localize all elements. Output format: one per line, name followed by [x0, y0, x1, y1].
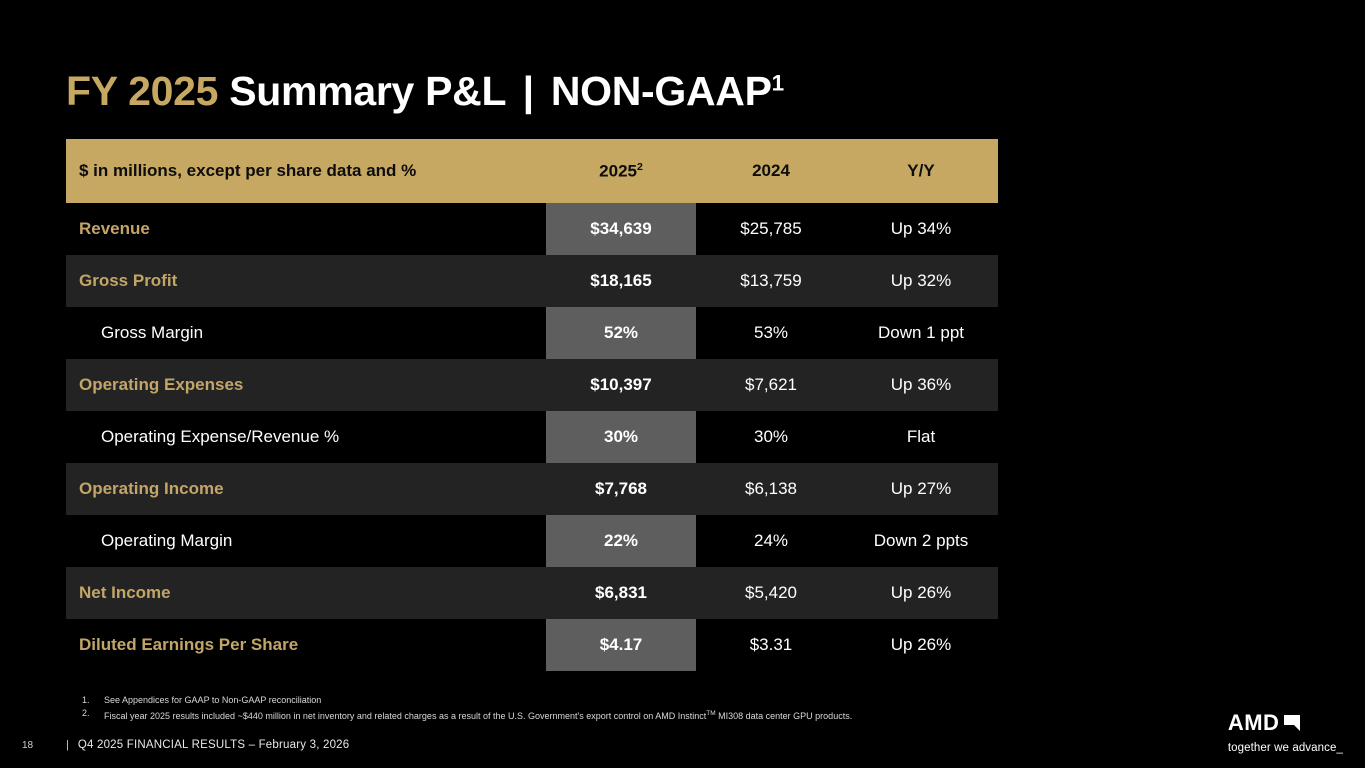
row-label: Operating Income — [66, 479, 546, 499]
column-header-2025-superscript: 2 — [637, 161, 643, 173]
cell-2025: 30% — [546, 427, 696, 447]
row-label: Gross Margin — [66, 323, 546, 343]
table-row: Net Income$6,831$5,420Up 26% — [66, 567, 998, 619]
column-header-yy: Y/Y — [846, 161, 996, 181]
column-header-2024: 2024 — [696, 161, 846, 181]
title-suffix: NON-GAAP — [551, 68, 772, 114]
footnote-2-text: Fiscal year 2025 results included ~$440 … — [104, 707, 852, 723]
row-label: Gross Profit — [66, 271, 546, 291]
row-label: Diluted Earnings Per Share — [66, 635, 546, 655]
footnote-1-text: See Appendices for GAAP to Non-GAAP reco… — [104, 694, 321, 707]
footnote-1-number: 1. — [82, 694, 104, 707]
footnote-2-number: 2. — [82, 707, 104, 723]
cell-2024: 30% — [696, 427, 846, 447]
table-body: Revenue$34,639$25,785Up 34%Gross Profit$… — [66, 203, 998, 671]
cell-2025: $34,639 — [546, 219, 696, 239]
table-header-row: $ in millions, except per share data and… — [66, 139, 998, 203]
cell-2024: $13,759 — [696, 271, 846, 291]
footnote-1: 1. See Appendices for GAAP to Non-GAAP r… — [82, 694, 1142, 707]
row-label: Operating Expense/Revenue % — [66, 427, 546, 447]
column-header-label: $ in millions, except per share data and… — [66, 161, 546, 181]
trademark-symbol: TM — [706, 710, 715, 717]
cell-2025: $18,165 — [546, 271, 696, 291]
slide-footer: 18 | Q4 2025 FINANCIAL RESULTS – Februar… — [22, 739, 349, 751]
amd-logo: AMD together we advance_ — [1228, 712, 1343, 754]
cell-yy: Up 26% — [846, 635, 996, 655]
cell-yy: Up 36% — [846, 375, 996, 395]
table-row: Operating Income$7,768$6,138Up 27% — [66, 463, 998, 515]
page-number: 18 — [22, 740, 66, 751]
cell-2024: 24% — [696, 531, 846, 551]
cell-yy: Up 27% — [846, 479, 996, 499]
amd-wordmark-text: AMD — [1228, 712, 1280, 734]
title-main: Summary P&L — [229, 68, 505, 114]
cell-2024: $3.31 — [696, 635, 846, 655]
cell-2025: $10,397 — [546, 375, 696, 395]
table-row: Gross Margin52%53%Down 1 ppt — [66, 307, 998, 359]
table-row: Operating Expense/Revenue %30%30%Flat — [66, 411, 998, 463]
row-label: Operating Expenses — [66, 375, 546, 395]
cell-2024: 53% — [696, 323, 846, 343]
title-separator: | — [517, 68, 540, 114]
amd-tagline: together we advance_ — [1228, 742, 1343, 754]
cell-yy: Up 26% — [846, 583, 996, 603]
table-row: Diluted Earnings Per Share$4.17$3.31Up 2… — [66, 619, 998, 671]
cell-2025: 22% — [546, 531, 696, 551]
cell-yy: Up 34% — [846, 219, 996, 239]
row-label: Revenue — [66, 219, 546, 239]
title-superscript: 1 — [772, 70, 784, 95]
footnotes: 1. See Appendices for GAAP to Non-GAAP r… — [82, 694, 1142, 723]
table-row: Operating Margin22%24%Down 2 ppts — [66, 515, 998, 567]
table-row: Gross Profit$18,165$13,759Up 32% — [66, 255, 998, 307]
slide: FY 2025 Summary P&L | NON-GAAP1 $ in mil… — [0, 0, 1365, 768]
cell-2024: $5,420 — [696, 583, 846, 603]
cell-2024: $6,138 — [696, 479, 846, 499]
table-row: Operating Expenses$10,397$7,621Up 36% — [66, 359, 998, 411]
cell-2025: $7,768 — [546, 479, 696, 499]
cell-2025: $6,831 — [546, 583, 696, 603]
amd-wordmark: AMD — [1228, 712, 1343, 737]
table-row: Revenue$34,639$25,785Up 34% — [66, 203, 998, 255]
cell-2025: $4.17 — [546, 635, 696, 655]
cell-yy: Down 2 ppts — [846, 531, 996, 551]
footnote-2: 2. Fiscal year 2025 results included ~$4… — [82, 707, 1142, 723]
amd-arrow-icon — [1282, 713, 1302, 737]
row-label: Net Income — [66, 583, 546, 603]
footer-text: Q4 2025 FINANCIAL RESULTS – February 3, … — [78, 739, 350, 751]
cell-yy: Down 1 ppt — [846, 323, 996, 343]
footer-separator: | — [66, 739, 78, 751]
cell-2025: 52% — [546, 323, 696, 343]
column-header-2025: 20252 — [546, 161, 696, 182]
cell-2024: $25,785 — [696, 219, 846, 239]
title-accent: FY 2025 — [66, 68, 218, 114]
cell-yy: Up 32% — [846, 271, 996, 291]
page-title: FY 2025 Summary P&L | NON-GAAP1 — [66, 68, 784, 115]
cell-2024: $7,621 — [696, 375, 846, 395]
cell-yy: Flat — [846, 427, 996, 447]
row-label: Operating Margin — [66, 531, 546, 551]
summary-pl-table: $ in millions, except per share data and… — [66, 139, 998, 671]
